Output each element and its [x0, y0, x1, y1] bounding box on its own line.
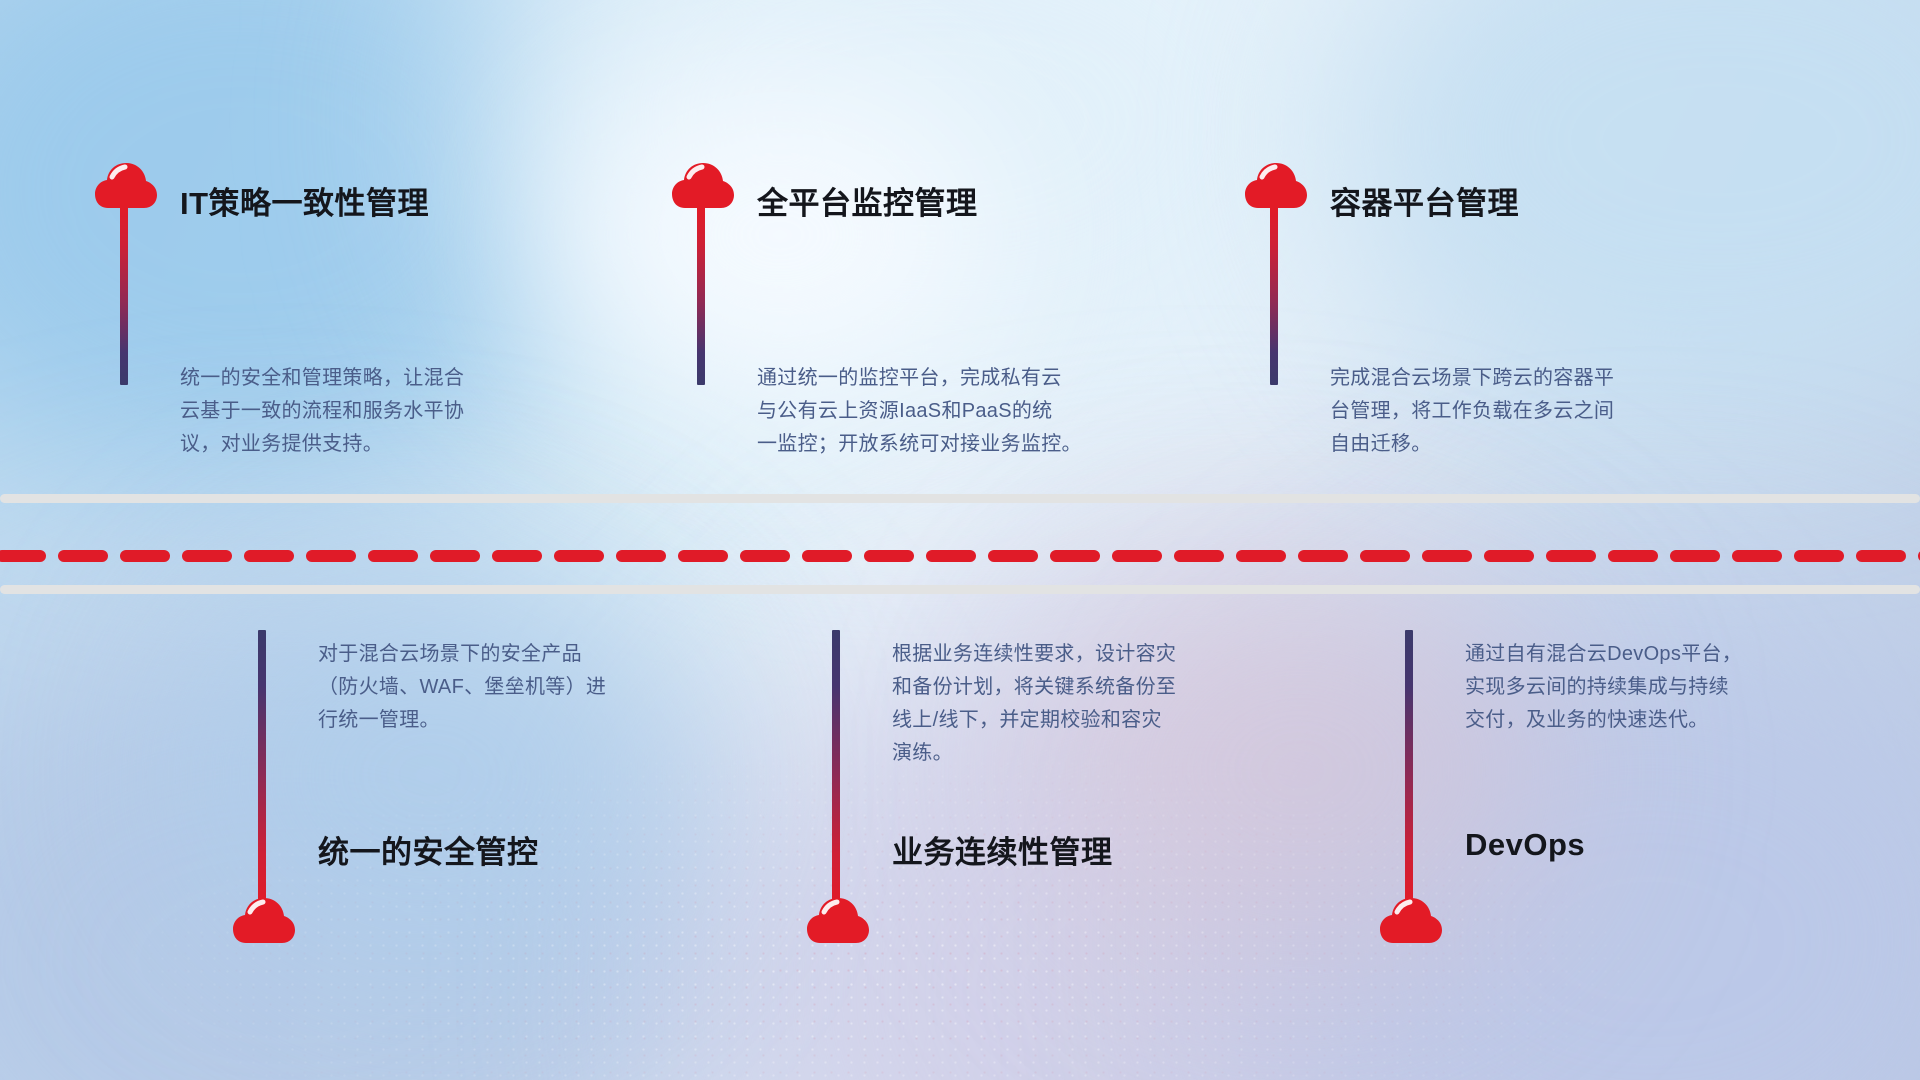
dash-segment [1732, 550, 1782, 562]
dash-segment [802, 550, 852, 562]
card-heading: IT策略一致性管理 [180, 178, 429, 223]
dash-segment [1546, 550, 1596, 562]
cloud-icon [233, 898, 295, 944]
dash-segment [1794, 550, 1844, 562]
connector-stem [832, 630, 840, 910]
dash-segment [1422, 550, 1472, 562]
dash-segment [1174, 550, 1224, 562]
dash-segment [864, 550, 914, 562]
dash-segment [1360, 550, 1410, 562]
cloud-icon [1380, 898, 1442, 944]
dash-segment [1298, 550, 1348, 562]
dash-segment [740, 550, 790, 562]
connector-stem [1405, 630, 1413, 910]
infographic-canvas: IT策略一致性管理 统一的安全和管理策略，让混合 云基于一致的流程和服务水平协 … [0, 0, 1920, 1080]
card-body: 通过自有混合云DevOps平台， 实现多云间的持续集成与持续 交付，及业务的快速… [1465, 638, 1885, 737]
card-heading: 业务连续性管理 [892, 827, 1113, 872]
dash-segment [492, 550, 542, 562]
dashed-separator [0, 550, 1920, 562]
dash-segment [430, 550, 480, 562]
connector-stem [1270, 205, 1278, 385]
dash-segment [1608, 550, 1658, 562]
dash-segment [306, 550, 356, 562]
dash-segment [1670, 550, 1720, 562]
dash-segment [120, 550, 170, 562]
card-heading: 统一的安全管控 [318, 827, 539, 872]
dash-segment [0, 550, 46, 562]
cloud-icon [672, 163, 734, 209]
dash-segment [678, 550, 728, 562]
cloud-icon [95, 163, 157, 209]
dash-segment [58, 550, 108, 562]
dash-segment [1484, 550, 1534, 562]
card-heading: DevOps [1465, 827, 1585, 863]
dash-segment [554, 550, 604, 562]
dash-segment [182, 550, 232, 562]
dash-segment [1050, 550, 1100, 562]
card-body: 统一的安全和管理策略，让混合 云基于一致的流程和服务水平协 议，对业务提供支持。 [180, 362, 610, 461]
dash-segment [988, 550, 1038, 562]
dash-segment [926, 550, 976, 562]
background-blob-i [560, 70, 1000, 400]
cloud-icon [1245, 163, 1307, 209]
dash-segment [1112, 550, 1162, 562]
connector-stem [120, 205, 128, 385]
card-body: 完成混合云场景下跨云的容器平 台管理，将工作负载在多云之间 自由迁移。 [1330, 362, 1750, 461]
divider-rail-top [0, 494, 1920, 503]
cloud-icon [807, 898, 869, 944]
dash-segment [244, 550, 294, 562]
dash-segment [368, 550, 418, 562]
card-heading: 全平台监控管理 [757, 178, 978, 223]
card-body: 对于混合云场景下的安全产品 （防火墙、WAF、堡垒机等）进 行统一管理。 [318, 638, 738, 737]
card-heading: 容器平台管理 [1330, 178, 1519, 223]
dash-segment [1236, 550, 1286, 562]
dash-segment [1856, 550, 1906, 562]
card-body: 通过统一的监控平台，完成私有云 与公有云上资源IaaS和PaaS的统 一监控；开… [757, 362, 1197, 461]
card-body: 根据业务连续性要求，设计容灾 和备份计划，将关键系统备份至 线上/线下，并定期校… [892, 638, 1312, 770]
divider-rail-bottom [0, 585, 1920, 594]
connector-stem [258, 630, 266, 910]
connector-stem [697, 205, 705, 385]
dash-segment [616, 550, 666, 562]
